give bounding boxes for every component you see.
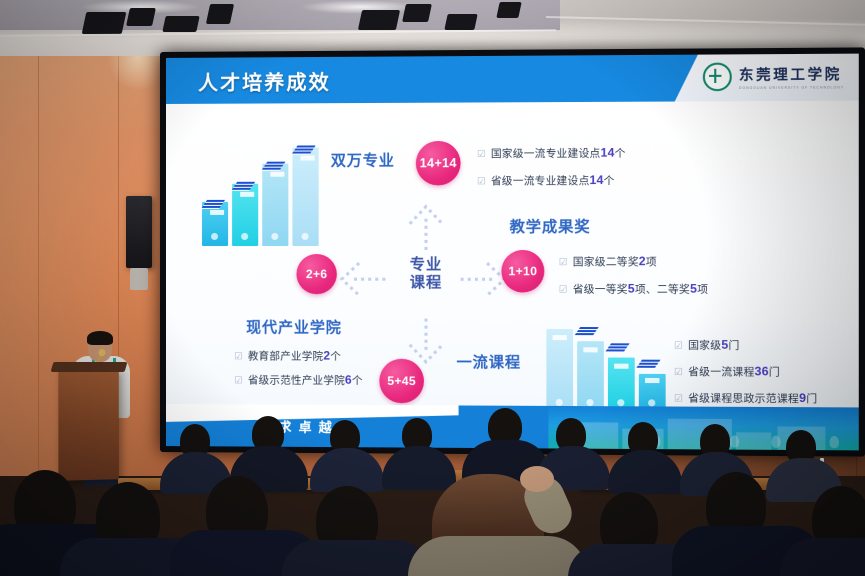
badge-teaching-awards: 1+10 — [501, 250, 544, 293]
ceiling-spotlight-icon — [162, 16, 199, 32]
ceiling-light-glow — [300, 0, 420, 14]
list-item-unit: 个 — [330, 351, 341, 363]
list-item-unit-2: 项 — [697, 284, 708, 296]
arrow-up-icon — [406, 204, 447, 252]
checkbox-icon: ☑ — [477, 176, 486, 187]
list-item-number: 5 — [721, 338, 728, 352]
wall-speaker-bracket — [130, 268, 148, 290]
list-item-text: 省级一流课程 — [688, 366, 754, 378]
badge-industry-colleges: 2+6 — [296, 254, 336, 294]
list-item-text: 国家级一流专业建设点 — [491, 148, 601, 160]
list-item-number: 2 — [323, 349, 330, 363]
list-item-unit: 门 — [728, 340, 739, 352]
podium-top — [51, 362, 128, 372]
ceiling-trim-line — [546, 16, 865, 26]
list-item-number: 9 — [799, 391, 806, 405]
center-hub: 专业 课程 — [386, 256, 465, 292]
slide-title: 人才培养成效 — [198, 66, 331, 96]
list-item: ☑教育部产业学院2个 — [234, 348, 341, 363]
hub-line-1: 专业 — [386, 256, 465, 274]
checkbox-icon: ☑ — [674, 367, 683, 378]
list-item-unit: 门 — [806, 393, 817, 405]
list-item-number: 14 — [589, 173, 603, 187]
ceiling-spotlight-icon — [126, 8, 156, 26]
section-title-industry-colleges: 现代产业学院 — [246, 316, 342, 337]
list-item-unit: 个 — [352, 375, 363, 387]
slide-body: 专业 课程 — [166, 101, 859, 408]
university-name: 东莞理工学院 — [739, 63, 844, 84]
list-item: ☑省级课程思政示范课程9门 — [674, 390, 817, 406]
ceiling-spotlight-icon — [358, 10, 400, 30]
list-item-unit: 个 — [604, 175, 615, 187]
ceiling-spotlight-icon — [444, 14, 477, 30]
section-title-teaching-awards: 教学成果奖 — [510, 215, 591, 236]
list-item: ☑国家级一流专业建设点14个 — [477, 145, 626, 161]
list-item: ☑省级一流课程36门 — [674, 364, 780, 380]
slide-canvas: 人才培养成效 东莞理工学院 DONGGUAN UNIVERSITY OF TEC… — [166, 54, 859, 451]
list-item-number: 2 — [639, 254, 646, 268]
slide-header: 人才培养成效 东莞理工学院 DONGGUAN UNIVERSITY OF TEC… — [166, 54, 859, 104]
checkbox-icon: ☑ — [674, 340, 683, 351]
ceiling-spotlight-icon — [402, 4, 432, 22]
badge-first-class-courses: 5+45 — [379, 359, 424, 404]
arrow-left-icon — [339, 259, 388, 299]
university-logo: 东莞理工学院 DONGGUAN UNIVERSITY OF TECHNOLOGY — [703, 62, 844, 91]
checkbox-icon: ☑ — [477, 149, 486, 160]
arrow-right-icon — [459, 259, 508, 299]
badge-majors: 14+14 — [416, 141, 461, 186]
hub-line-2: 课程 — [386, 274, 465, 292]
wall-loudspeaker — [126, 196, 152, 268]
list-item-number: 6 — [345, 373, 352, 387]
checkbox-icon: ☑ — [559, 257, 568, 268]
arrow-down-icon — [406, 317, 447, 366]
list-item: ☑国家级二等奖2项 — [559, 254, 657, 269]
list-item-text: 省级一等奖 — [573, 283, 628, 295]
list-item-unit: 项、二等奖 — [635, 283, 690, 295]
ceiling-spotlight-icon — [496, 2, 521, 18]
presentation-screen: 人才培养成效 东莞理工学院 DONGGUAN UNIVERSITY OF TEC… — [160, 47, 865, 456]
list-item: ☑国家级5门 — [674, 337, 740, 352]
list-item-text: 省级示范性产业学院 — [248, 374, 345, 386]
ceiling-spotlight-icon — [82, 12, 127, 34]
list-item-text: 国家级 — [688, 339, 721, 351]
bar-chart-graphic-left — [198, 141, 323, 246]
list-item-text: 国家级二等奖 — [573, 256, 639, 268]
list-item: ☑省级一等奖5项、二等奖5项 — [559, 281, 709, 296]
university-seal-icon — [703, 63, 732, 92]
conference-room-photo: 人才培养成效 东莞理工学院 DONGGUAN UNIVERSITY OF TEC… — [0, 0, 865, 576]
audience-shoulders-beige-coat — [408, 536, 588, 576]
list-item-number: 36 — [755, 364, 769, 378]
list-item-unit: 门 — [769, 366, 780, 378]
podium — [58, 367, 118, 481]
checkbox-icon: ☑ — [234, 375, 243, 386]
list-item-text: 教育部产业学院 — [248, 350, 323, 362]
speaker-hair — [87, 331, 113, 345]
section-title-majors: 双万专业 — [331, 149, 395, 170]
audience-hand — [520, 466, 554, 492]
checkbox-icon: ☑ — [234, 351, 243, 362]
checkbox-icon: ☑ — [559, 284, 568, 295]
list-item: ☑省级一流专业建设点14个 — [477, 173, 615, 189]
list-item-text: 省级课程思政示范课程 — [688, 392, 799, 405]
ceiling-spotlight-icon — [206, 4, 234, 24]
list-item-unit: 项 — [646, 256, 657, 268]
list-item-unit: 个 — [615, 147, 626, 159]
list-item-number: 14 — [600, 145, 614, 159]
bar-chart-graphic-right — [542, 321, 669, 411]
university-name-en: DONGGUAN UNIVERSITY OF TECHNOLOGY — [739, 85, 844, 90]
list-item: ☑省级示范性产业学院6个 — [234, 372, 363, 388]
checkbox-icon: ☑ — [674, 393, 683, 404]
section-title-first-class-courses: 一流课程 — [457, 351, 521, 372]
list-item-text: 省级一流专业建设点 — [491, 175, 590, 187]
